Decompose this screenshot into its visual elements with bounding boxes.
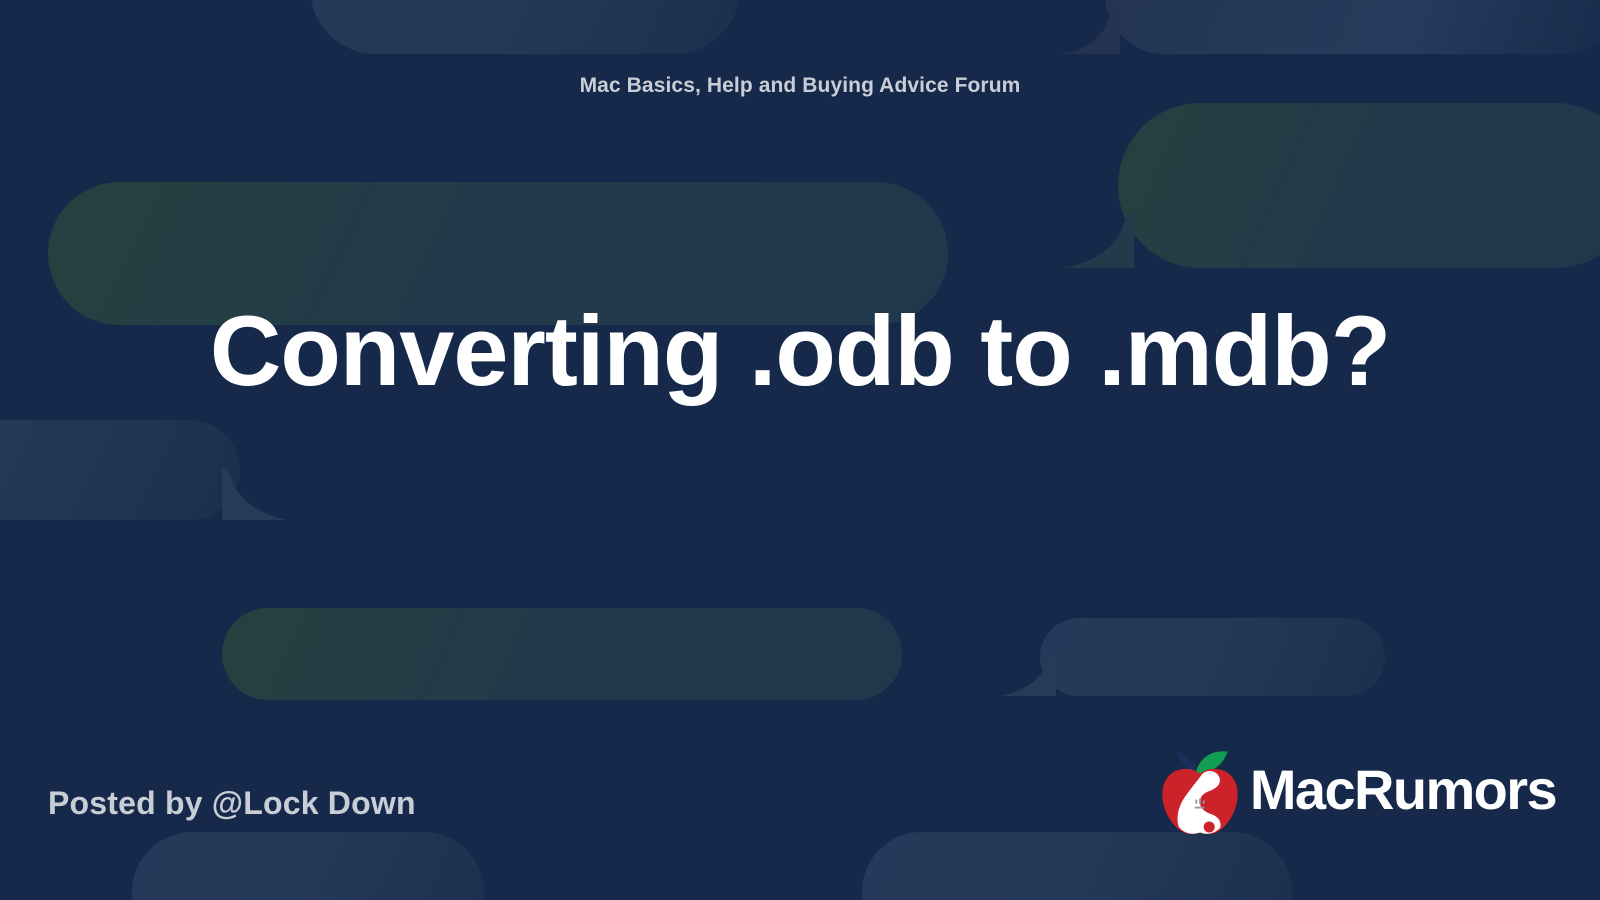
bubble-top-right-tail xyxy=(1060,8,1120,54)
bubble-mid-left-tail xyxy=(222,466,288,520)
macrumors-wordmark: MacRumors xyxy=(1250,762,1556,822)
bubble-bottom-right-tail xyxy=(998,652,1056,696)
social-share-card: Mac Basics, Help and Buying Advice Forum… xyxy=(0,0,1600,900)
bubble-right-green xyxy=(1118,103,1600,268)
macrumors-apple-icon xyxy=(1154,746,1246,838)
thread-title: Converting .odb to .mdb? xyxy=(130,286,1470,416)
bubble-top-left xyxy=(310,0,740,54)
bubble-footer-left xyxy=(132,832,484,900)
bubble-top-right xyxy=(1105,0,1600,54)
forum-name: Mac Basics, Help and Buying Advice Forum xyxy=(0,74,1600,98)
posted-by-byline: Posted by @Lock Down xyxy=(48,785,416,822)
bubble-bottom-left xyxy=(222,608,902,700)
bubble-footer-right xyxy=(862,832,1292,900)
bubble-mid-left xyxy=(0,420,240,520)
macrumors-logo: MacRumors xyxy=(1154,746,1556,838)
bubble-bottom-right xyxy=(1040,618,1385,696)
bubble-right-green-tail xyxy=(1062,210,1134,268)
